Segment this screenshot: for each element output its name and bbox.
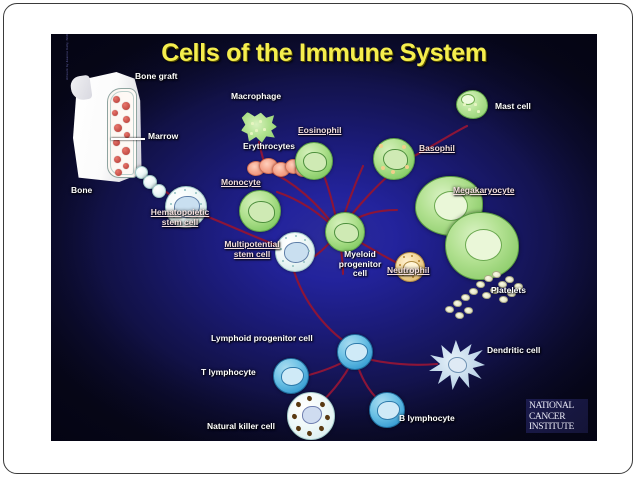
t-lymphocyte-cell — [273, 358, 309, 394]
marrow-cell-c — [152, 184, 166, 198]
label-b-lymphocyte: B lymphocyte — [399, 414, 455, 424]
bone-notch — [69, 75, 92, 102]
mast-cell — [456, 90, 488, 119]
label-mast-cell: Mast cell — [495, 102, 531, 112]
label-megakaryocyte: Megakaryocyte — [453, 186, 514, 196]
label-platelets: Platelets — [491, 286, 526, 296]
eosinophil-cell — [295, 142, 333, 180]
marrow-leader-line — [111, 138, 145, 140]
myeloid-progenitor-cell — [325, 212, 365, 252]
page-title: Cells of the Immune System — [51, 39, 597, 68]
basophil-cell — [373, 138, 415, 180]
label-monocyte: Monocyte — [221, 178, 261, 188]
label-marrow: Marrow — [148, 132, 178, 142]
slide-canvas: Cells of the Immune System — [3, 3, 633, 474]
label-eosinophil: Eosinophil — [298, 126, 341, 136]
label-natural-killer-cell: Natural killer cell — [207, 422, 275, 432]
lymphoid-progenitor-cell — [337, 334, 373, 370]
label-t-lymphocyte: T lymphocyte — [201, 368, 256, 378]
label-basophil: Basophil — [419, 144, 455, 154]
label-lymphoid-progenitor-cell: Lymphoid progenitor cell — [211, 334, 313, 344]
label-bone-graft: Bone graft — [135, 72, 178, 82]
bone-marrow-cavity — [107, 88, 137, 178]
label-macrophage: Macrophage — [231, 92, 281, 102]
platelet-cluster — [443, 270, 563, 326]
label-multipotential-stem-cell: Multipotential stem cell — [209, 240, 295, 259]
label-hematopoietic-stem-cell: Hematopoietic stem cell — [137, 208, 223, 227]
natural-killer-cell — [287, 392, 335, 440]
monocyte-cell — [239, 190, 281, 232]
label-erythrocytes: Erythrocytes — [243, 142, 295, 152]
bone-graft-illustration — [73, 72, 143, 182]
label-myeloid-progenitor-cell: Myeloid progenitor cell — [329, 250, 391, 279]
immune-system-diagram: Cells of the Immune System — [51, 34, 597, 441]
label-neutrophil: Neutrophil — [387, 266, 430, 276]
label-dendritic-cell: Dendritic cell — [487, 346, 540, 356]
nci-logo-line2: CANCER — [529, 412, 586, 423]
nci-logo: NATIONAL CANCER INSTITUTE — [526, 399, 588, 433]
nci-logo-line3: INSTITUTE — [529, 422, 586, 433]
label-bone: Bone — [71, 186, 92, 196]
nci-logo-line1: NATIONAL — [529, 401, 586, 412]
